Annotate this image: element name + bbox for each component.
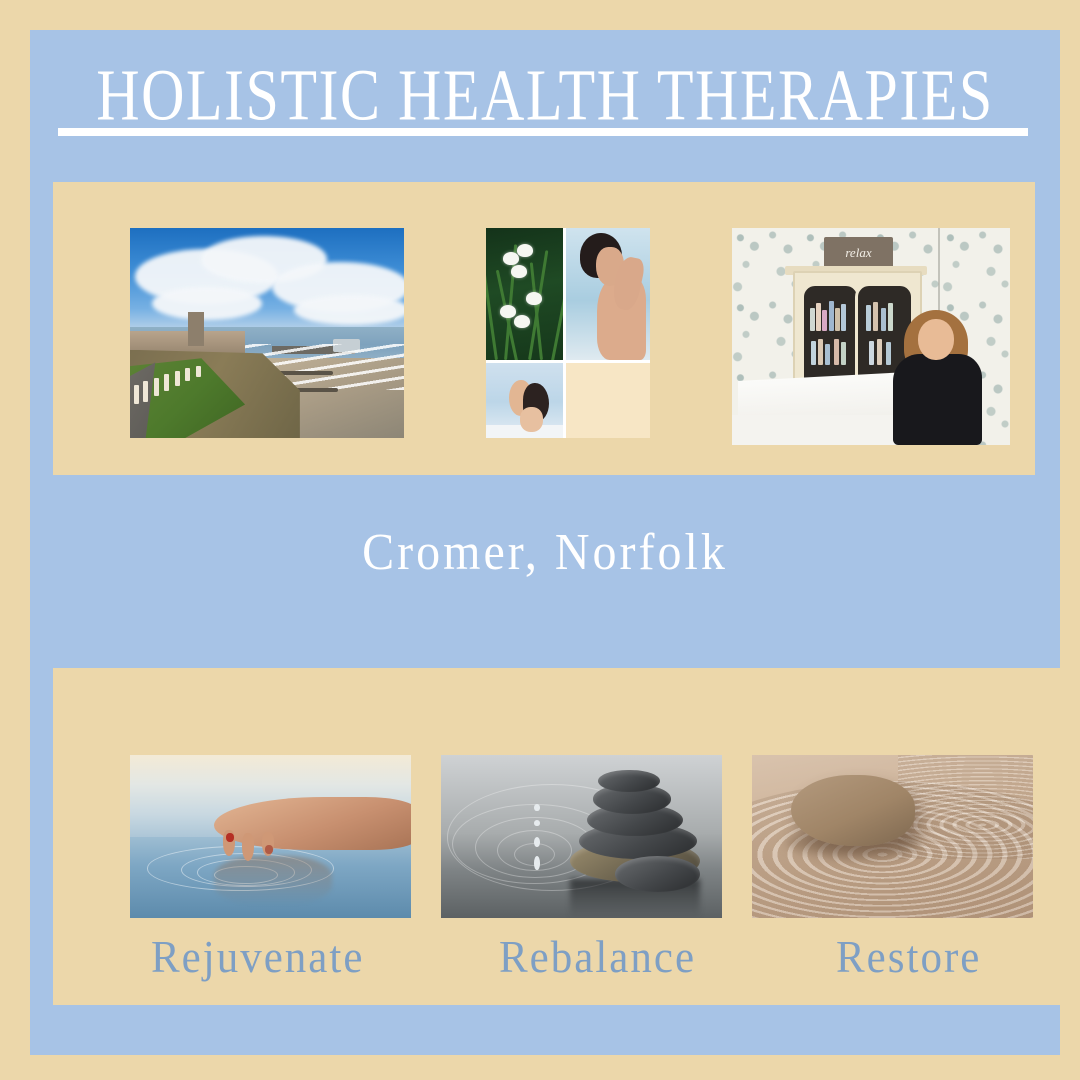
cromer-coastline-photo bbox=[130, 228, 404, 438]
location-caption-text: Cromer, Norfolk bbox=[362, 523, 728, 582]
bottom-photo-band: Rejuvenate Rebalance Restore bbox=[53, 668, 1060, 1005]
coast-fence bbox=[133, 362, 221, 425]
zen-stone-sand-photo bbox=[752, 755, 1033, 918]
top-photo-band: relax bbox=[53, 182, 1035, 475]
spa-collage-photo bbox=[486, 228, 650, 438]
label-restore-text: Restore bbox=[836, 932, 981, 984]
therapist-body bbox=[893, 354, 982, 445]
collage-cell-blank bbox=[566, 363, 650, 438]
page-title: HOLISTIC HEALTH THERAPIES bbox=[58, 55, 1032, 135]
church-tower bbox=[188, 312, 204, 346]
page-title-text: HOLISTIC HEALTH THERAPIES bbox=[96, 58, 994, 131]
label-rejuvenate: Rejuvenate bbox=[108, 933, 481, 982]
zen-stones-water-photo bbox=[441, 755, 722, 918]
poster-canvas: HOLISTIC HEALTH THERAPIES bbox=[0, 0, 1080, 1080]
relax-sign-text: relax bbox=[845, 245, 871, 261]
collage-cell-woman bbox=[566, 228, 650, 360]
treatment-room-photo: relax bbox=[732, 228, 1010, 445]
bottom-label-row: Rejuvenate Rebalance Restore bbox=[108, 933, 1058, 982]
location-caption: Cromer, Norfolk bbox=[58, 525, 1032, 580]
hand-touching-water-photo bbox=[130, 755, 411, 918]
massage-couch-base bbox=[732, 415, 904, 445]
title-underline-rule bbox=[58, 128, 1028, 136]
sand-stone bbox=[791, 775, 915, 847]
collage-cell-flowers bbox=[486, 228, 563, 360]
relax-sign: relax bbox=[824, 237, 894, 270]
collage-grid bbox=[486, 228, 650, 438]
therapist-face bbox=[918, 319, 954, 360]
label-rejuvenate-text: Rejuvenate bbox=[151, 932, 364, 984]
label-rebalance: Rebalance bbox=[481, 933, 824, 982]
inner-blue-panel: HOLISTIC HEALTH THERAPIES bbox=[30, 30, 1060, 1055]
bottom-gallery-row bbox=[130, 755, 1033, 918]
label-restore: Restore bbox=[824, 933, 1080, 982]
top-gallery-row: relax bbox=[130, 228, 1010, 445]
label-rebalance-text: Rebalance bbox=[499, 932, 696, 984]
hand-reflection bbox=[214, 856, 332, 905]
collage-cell-massage bbox=[486, 363, 563, 438]
